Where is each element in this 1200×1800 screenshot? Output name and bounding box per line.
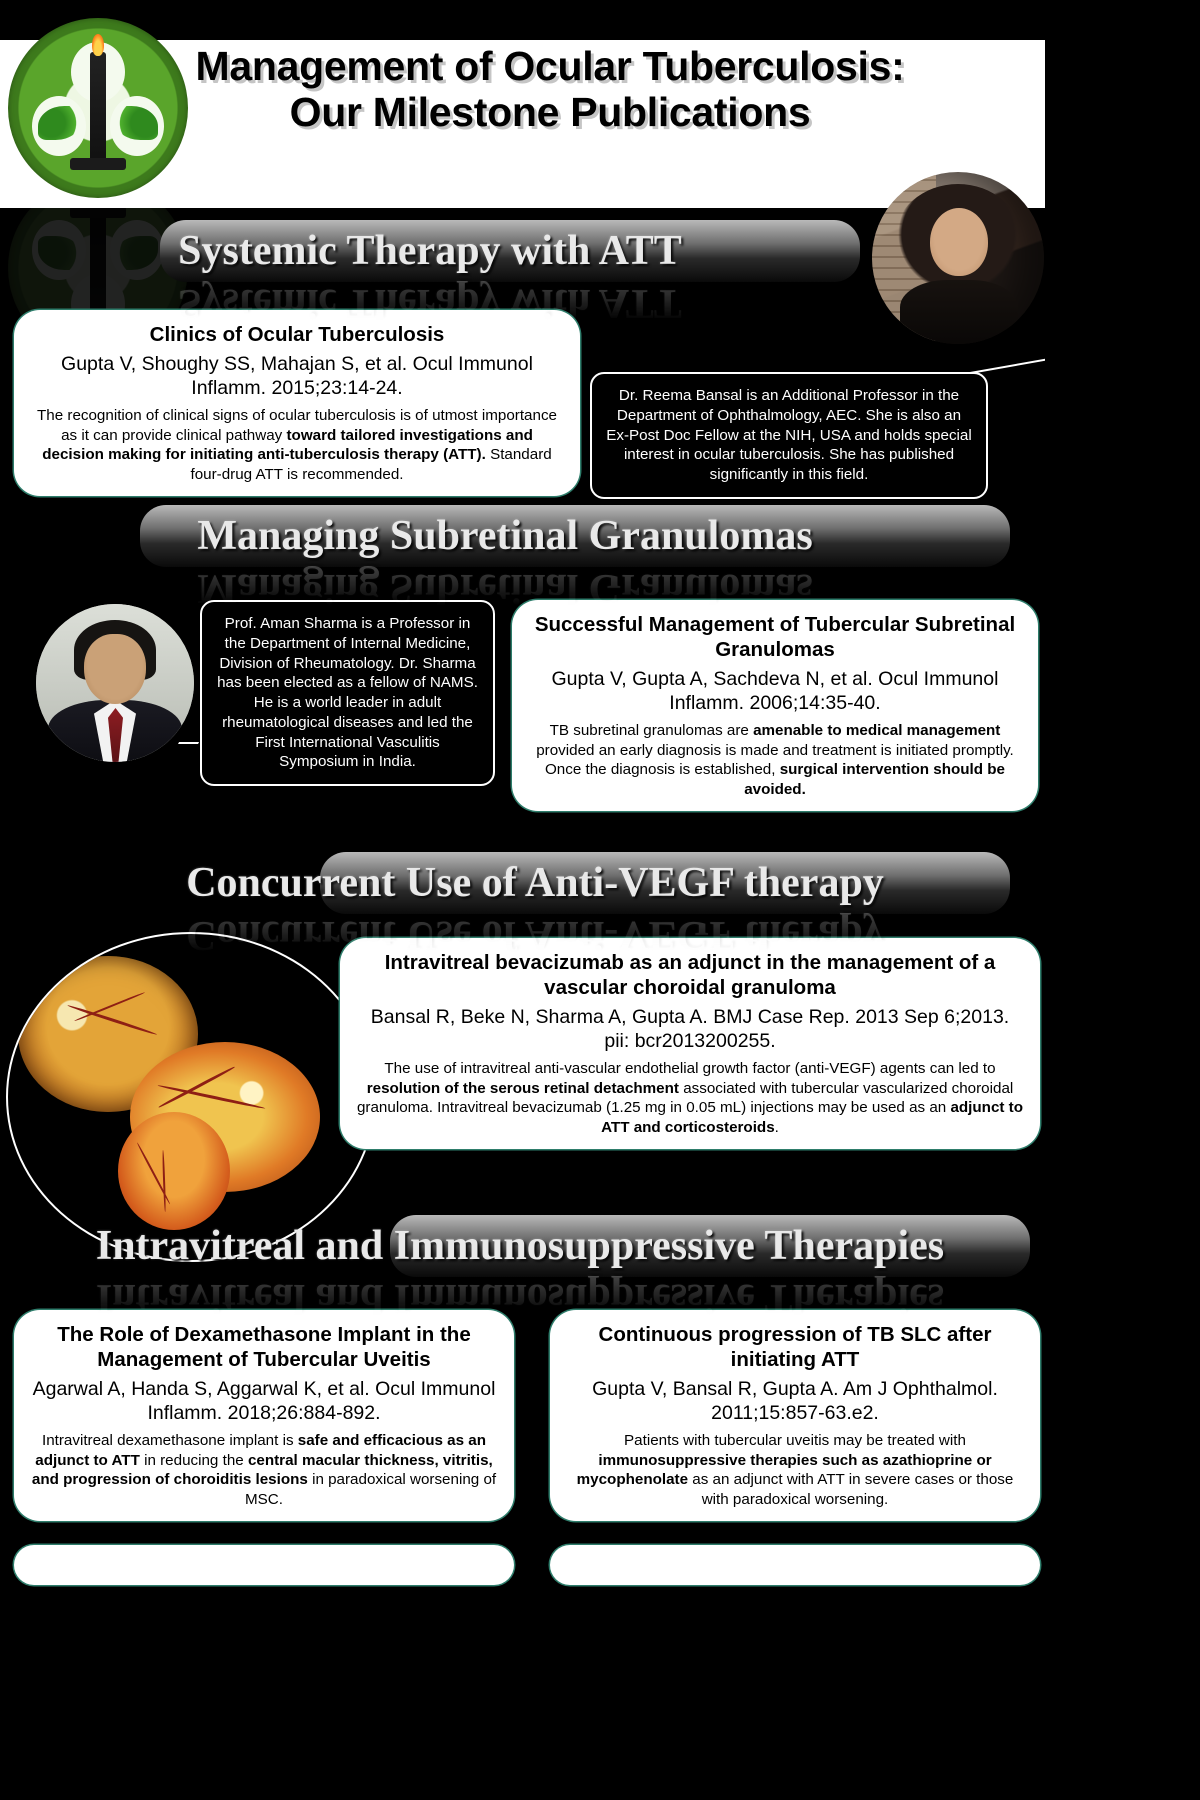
publication-card-bevacizumab[interactable]: Intravitreal bevacizumab as an adjunct i… [340,938,1040,1149]
section-banner-subretinal: Managing Subretinal Granulomas Managing … [0,505,1010,567]
section-banner-intravitreal: Intravitreal and Immunosuppressive Thera… [10,1215,1030,1277]
poster-right-margin [1045,0,1200,1800]
section-banner-reflection-2: Managing Subretinal Granulomas [0,563,1010,619]
publication-card-granulomas[interactable]: Successful Management of Tubercular Subr… [512,600,1038,811]
section-banner-anti-vegf: Concurrent Use of Anti-VEGF therapy Conc… [60,852,1010,914]
section-banner-reflection-3: Concurrent Use of Anti-VEGF therapy [60,910,1010,966]
publication-citation: Bansal R, Beke N, Sharma A, Gupta A. BMJ… [356,1005,1024,1053]
publication-abstract: Patients with tubercular uveitis may be … [566,1431,1024,1509]
bio-bubble-aman-sharma: Prof. Aman Sharma is a Professor in the … [200,600,495,786]
publication-title: Successful Management of Tubercular Subr… [528,612,1022,662]
page-title: Management of Ocular Tuberculosis: Our M… [190,44,910,136]
poster-canvas: Management of Ocular Tuberculosis: Our M… [0,0,1045,1800]
publication-citation: Gupta V, Shoughy SS, Mahajan S, et al. O… [30,352,564,400]
section-banner-reflection-4: Intravitreal and Immunosuppressive Thera… [10,1273,1030,1329]
portrait-reema-bansal [872,172,1044,344]
section-banner-label-1: Systemic Therapy with ATT [0,220,860,282]
publication-card-clinics[interactable]: Clinics of Ocular Tuberculosis Gupta V, … [14,310,580,496]
pgimer-logo [8,18,188,198]
fundus-photograph-choroidal-granuloma [6,932,376,1262]
bio-text-aman-sharma: Prof. Aman Sharma is a Professor in the … [217,615,478,770]
section-banner-reflection-1: Systemic Therapy with ATT [0,278,860,334]
publication-card-dexamethasone[interactable]: The Role of Dexamethasone Implant in the… [14,1310,514,1521]
publication-citation: Agarwal A, Handa S, Aggarwal K, et al. O… [30,1377,498,1425]
publication-abstract: The use of intravitreal anti-vascular en… [356,1059,1024,1137]
bio-text-reema-bansal: Dr. Reema Bansal is an Additional Profes… [606,387,972,483]
publication-card-partial-left[interactable] [14,1545,514,1585]
portrait-aman-sharma [36,604,194,762]
section-banner-systemic-therapy: Systemic Therapy with ATT Systemic Thera… [0,220,860,282]
publication-abstract: TB subretinal granulomas are amenable to… [528,721,1022,799]
section-banner-label-4: Intravitreal and Immunosuppressive Thera… [10,1215,1030,1277]
publication-citation: Gupta V, Gupta A, Sachdeva N, et al. Ocu… [528,667,1022,715]
section-banner-label-3: Concurrent Use of Anti-VEGF therapy [60,852,1010,914]
poster-title-line-2: Our Milestone Publications [190,90,910,136]
publication-abstract: Intravitreal dexamethasone implant is sa… [30,1431,498,1509]
publication-abstract: The recognition of clinical signs of ocu… [30,406,564,484]
publication-title: Continuous progression of TB SLC after i… [566,1322,1024,1372]
publication-title: The Role of Dexamethasone Implant in the… [30,1322,498,1372]
publication-card-partial-right[interactable] [550,1545,1040,1585]
section-banner-label-2: Managing Subretinal Granulomas [0,505,1010,567]
publication-card-slc[interactable]: Continuous progression of TB SLC after i… [550,1310,1040,1521]
publication-citation: Gupta V, Bansal R, Gupta A. Am J Ophthal… [566,1377,1024,1425]
poster-title-line-1: Management of Ocular Tuberculosis: [190,44,910,90]
bio-bubble-reema-bansal: Dr. Reema Bansal is an Additional Profes… [590,372,988,499]
bio-bubble-tail-reema [970,358,1045,399]
